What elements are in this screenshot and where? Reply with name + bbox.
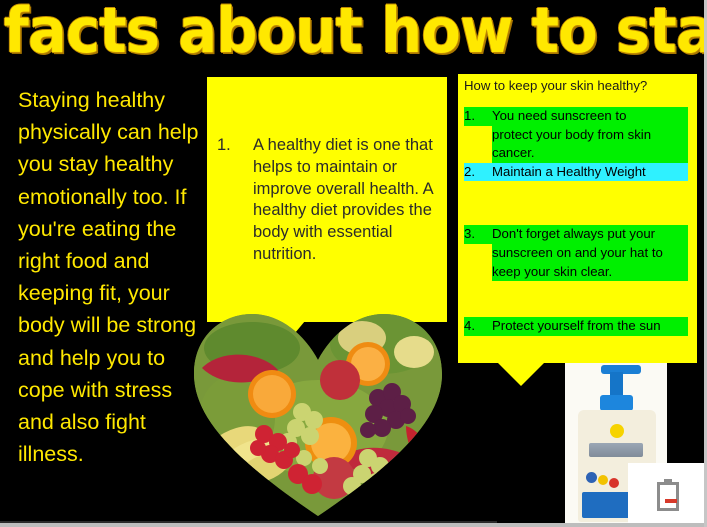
list-item-text: Protect yourself from the sun — [492, 317, 688, 336]
list-spacer — [464, 181, 697, 225]
low-battery-icon — [657, 479, 679, 511]
list-item: 1.A healthy diet is one that helps to ma… — [217, 135, 445, 266]
list-item-line: You need sunscreen to — [492, 108, 626, 123]
brand-label — [589, 443, 643, 457]
diet-callout-box: 1.A healthy diet is one that helps to ma… — [207, 77, 447, 322]
skin-panel-heading: How to keep your skin healthy? — [464, 77, 696, 94]
list-item-number: 4. — [464, 317, 492, 336]
battery-body-shape — [657, 482, 679, 511]
label-dot — [598, 475, 608, 485]
list-item-line: Maintain a Healthy Weight — [492, 164, 646, 179]
list-item-text: A healthy diet is one that helps to main… — [253, 135, 439, 266]
slide-canvas: facts about how to stay healthy? Staying… — [0, 0, 707, 527]
skin-health-panel: How to keep your skin healthy? 1.You nee… — [458, 74, 697, 363]
list-item-number: 2. — [464, 163, 492, 182]
label-dot — [609, 478, 619, 488]
skin-panel-tail — [497, 362, 545, 386]
page-title: facts about how to stay healthy? — [0, 0, 658, 68]
list-item-text: You need sunscreen toprotect your body f… — [492, 107, 688, 163]
sun-logo-icon — [610, 424, 624, 438]
diet-list: 1.A healthy diet is one that helps to ma… — [217, 135, 445, 266]
list-item: 1.You need sunscreen toprotect your body… — [464, 107, 697, 163]
list-item-line: sunscreen on and your hat to — [492, 245, 663, 260]
intro-paragraph: Staying healthy physically can help you … — [18, 84, 203, 470]
list-item-line: Don't forget always put your — [492, 226, 655, 241]
skin-health-list: 1.You need sunscreen toprotect your body… — [464, 107, 697, 336]
battery-overlay-card — [628, 463, 707, 527]
list-item-number: 1. — [464, 107, 492, 126]
list-item-number: 1. — [217, 135, 253, 157]
list-item: 4.Protect yourself from the sun — [464, 317, 697, 336]
label-dot — [586, 472, 597, 483]
list-item-line: Protect yourself from the sun — [492, 318, 661, 333]
fruit-heart-image — [192, 308, 444, 521]
pump-collar-shape — [600, 395, 633, 411]
list-item-text: Maintain a Healthy Weight — [492, 163, 688, 182]
list-spacer — [464, 281, 697, 317]
bottom-chrome-strip — [0, 523, 707, 527]
list-item-line: cancer. — [492, 145, 535, 160]
list-item: 3.Don't forget always put yoursunscreen … — [464, 225, 697, 281]
battery-charge-level — [665, 499, 677, 503]
list-item-number: 3. — [464, 225, 492, 244]
list-item-text: Don't forget always put yoursunscreen on… — [492, 225, 688, 281]
list-item-line: keep your skin clear. — [492, 264, 612, 279]
list-item-line: protect your body from skin — [492, 127, 651, 142]
list-item: 2.Maintain a Healthy Weight — [464, 163, 697, 182]
